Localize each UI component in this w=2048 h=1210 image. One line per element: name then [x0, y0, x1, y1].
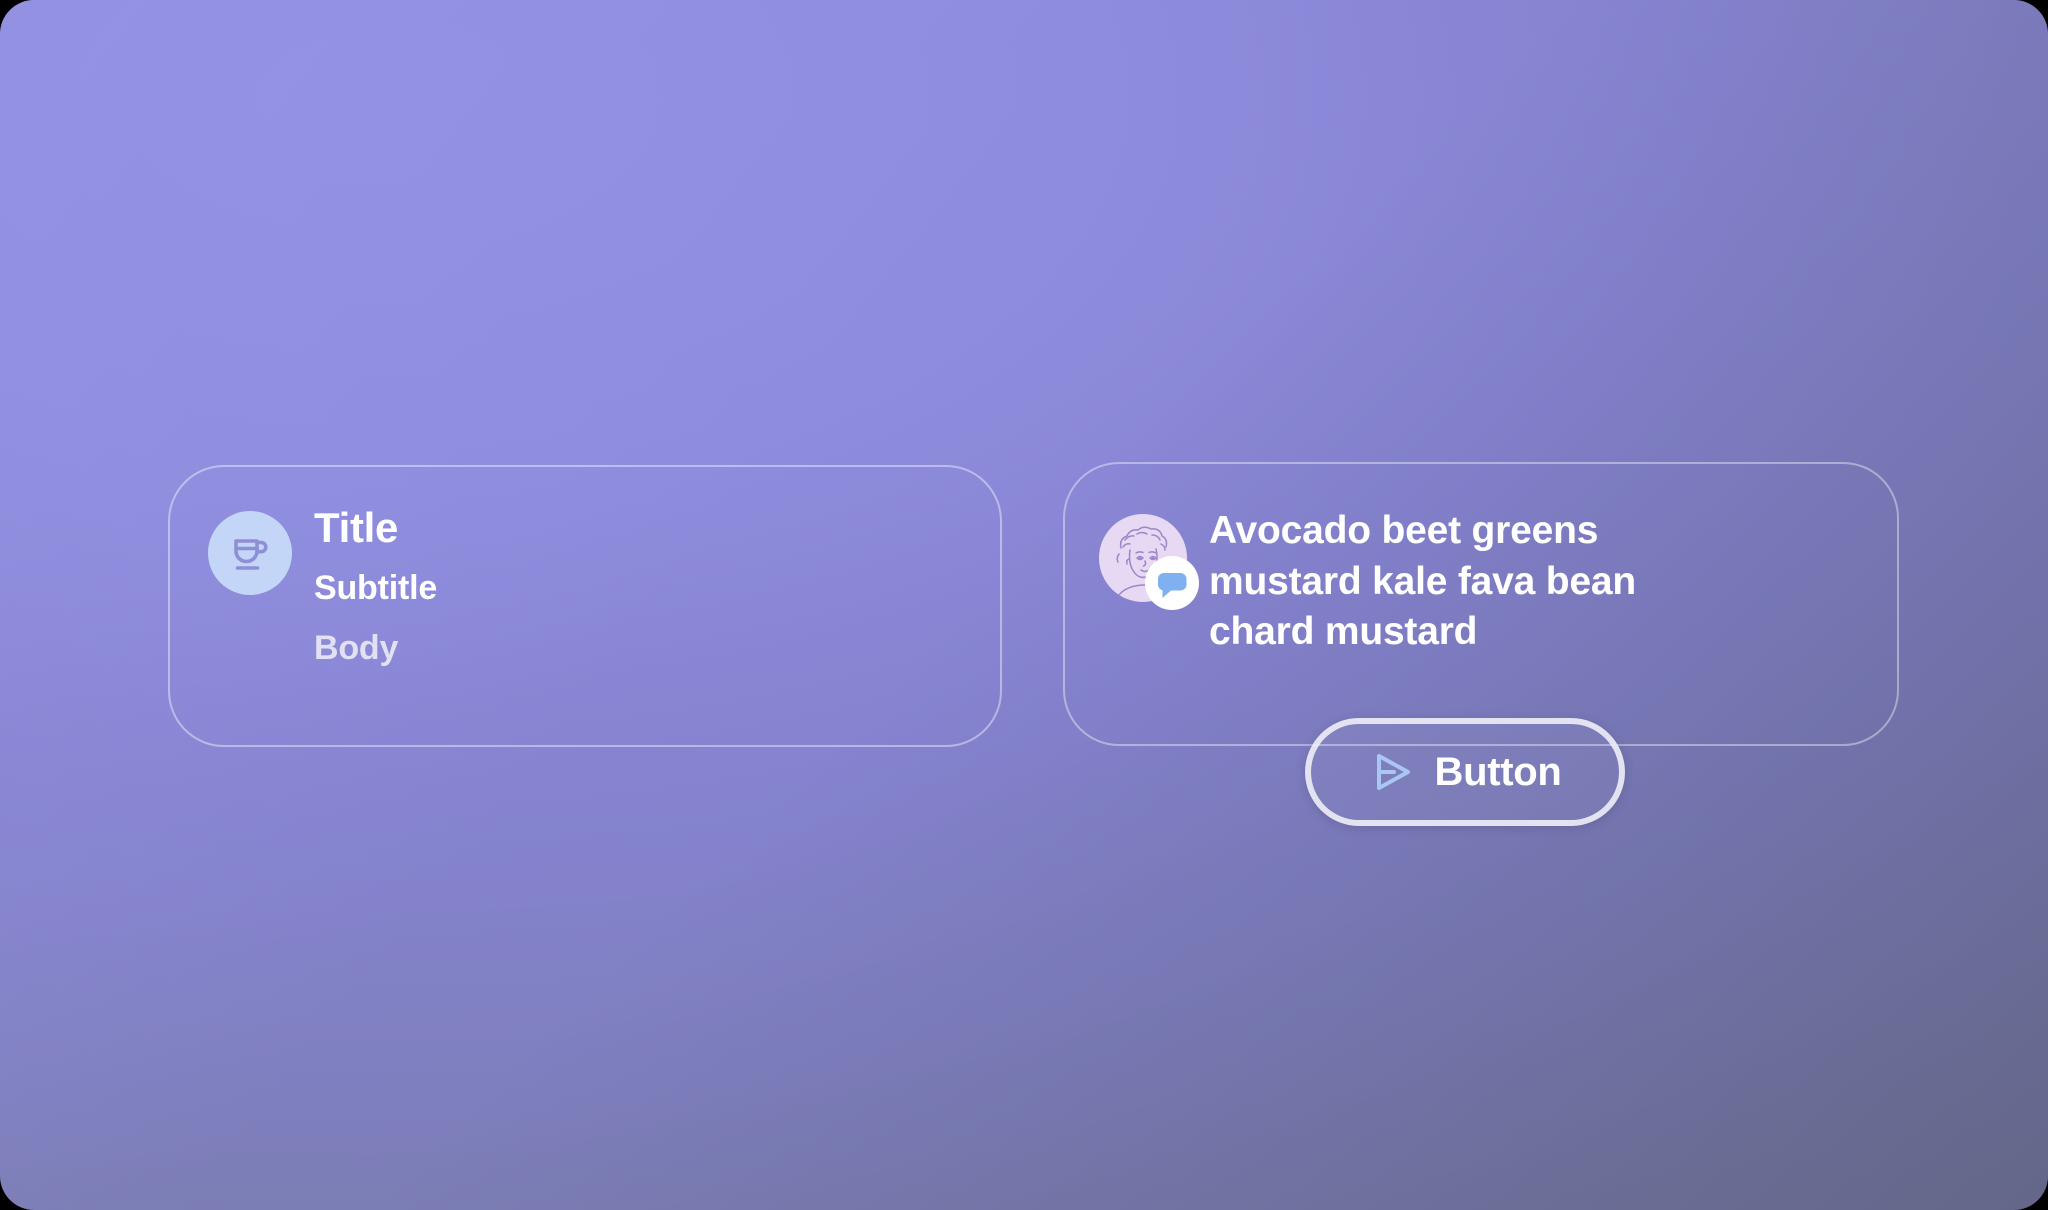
message-card[interactable]: Avocado beet greens mustard kale fava be… — [1063, 462, 1899, 746]
card-title: Title — [314, 507, 437, 549]
basic-card-text-group: Title Subtitle Body — [314, 509, 437, 665]
app-canvas: Title Subtitle Body — [0, 0, 2048, 1210]
chat-bubble-icon — [1155, 566, 1189, 600]
message-text: Avocado beet greens mustard kale fava be… — [1209, 506, 1679, 658]
card-subtitle: Subtitle — [314, 571, 437, 605]
cards-container: Title Subtitle Body — [0, 0, 2048, 1210]
send-button-label: Button — [1434, 752, 1561, 792]
card-body: Body — [314, 631, 437, 665]
send-icon — [1368, 748, 1416, 796]
basic-list-card[interactable]: Title Subtitle Body — [168, 465, 1002, 747]
avatar-with-badge — [1099, 514, 1187, 602]
coffee-avatar — [208, 511, 292, 595]
send-button[interactable]: Button — [1305, 718, 1625, 826]
coffee-cup-icon — [226, 529, 274, 577]
chat-badge — [1145, 556, 1199, 610]
